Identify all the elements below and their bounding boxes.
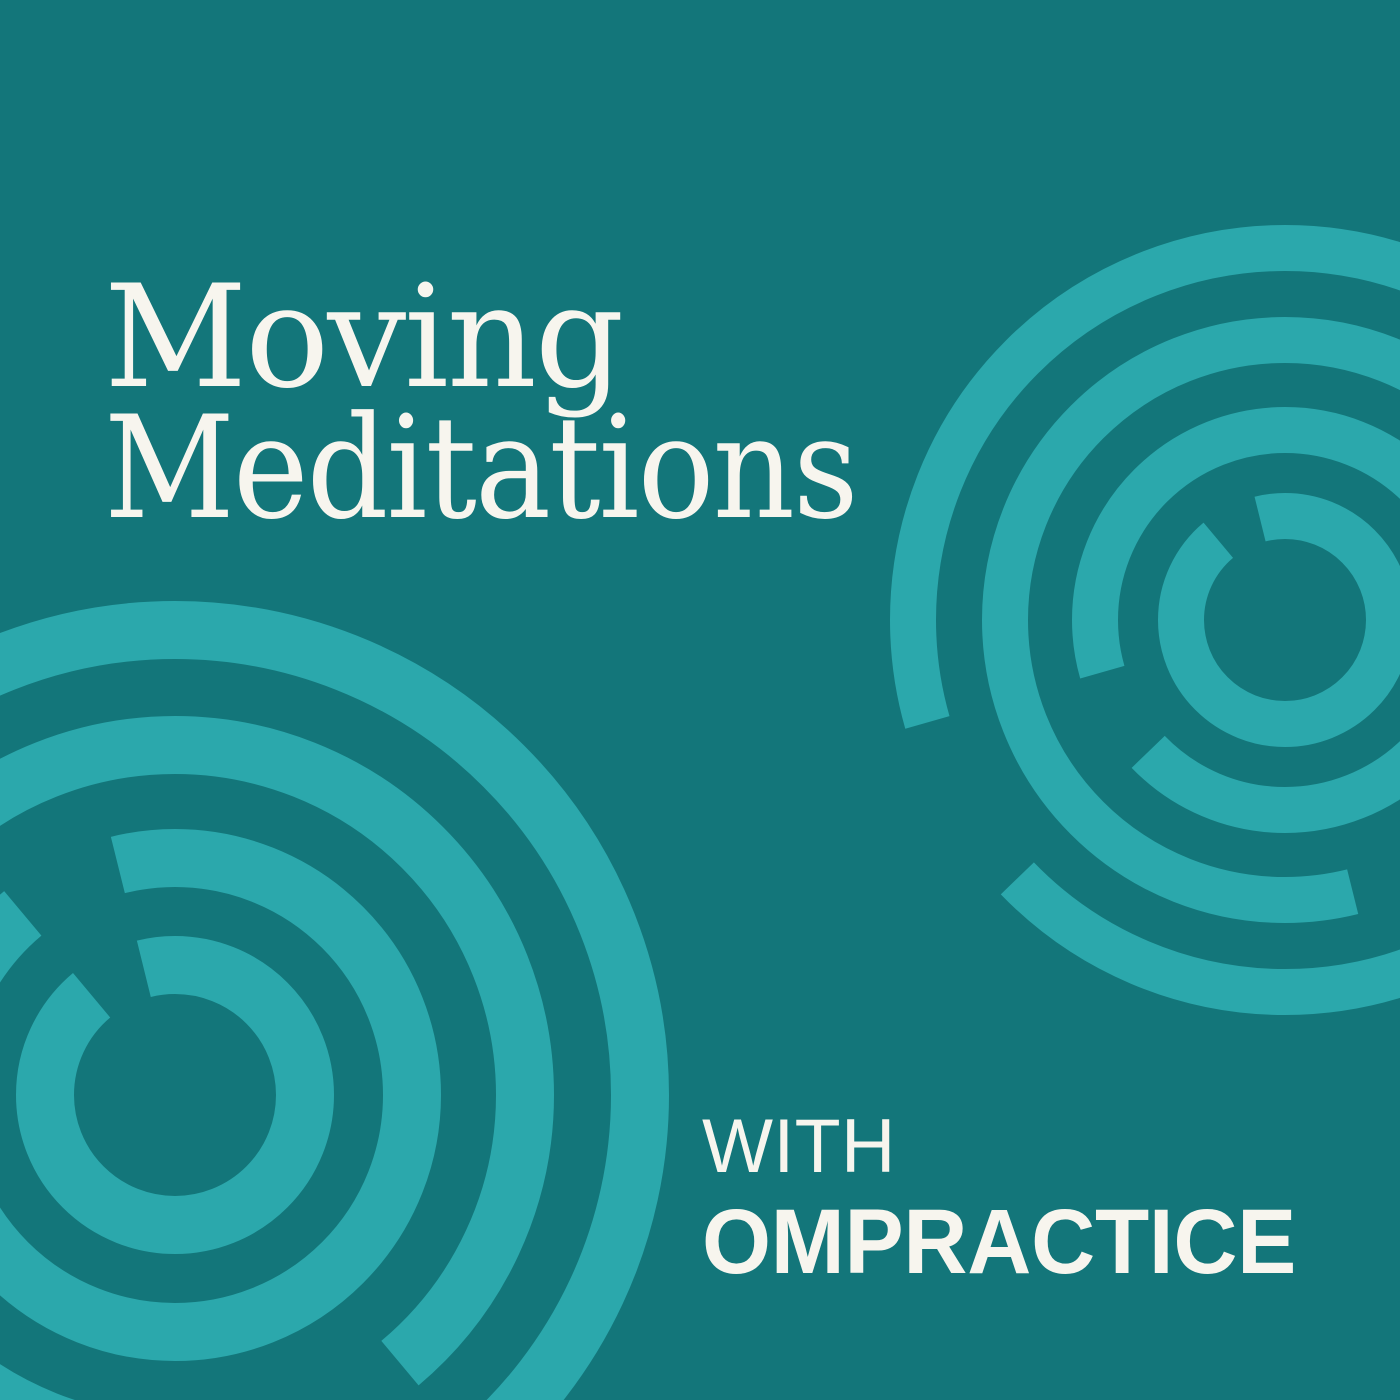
page-title: Moving Meditations <box>104 268 1004 538</box>
brand-preposition: WITH <box>702 1104 1336 1189</box>
concentric-maze-bottom-left-icon <box>0 590 680 1400</box>
title-line-meditations: Meditations <box>104 399 914 538</box>
brand-name: OMPRACTICE <box>702 1191 1320 1294</box>
brand-lockup: WITH OMPRACTICE <box>702 1104 1342 1294</box>
cover-art-canvas: Moving Meditations WITH OMPRACTICE <box>0 0 1400 1400</box>
